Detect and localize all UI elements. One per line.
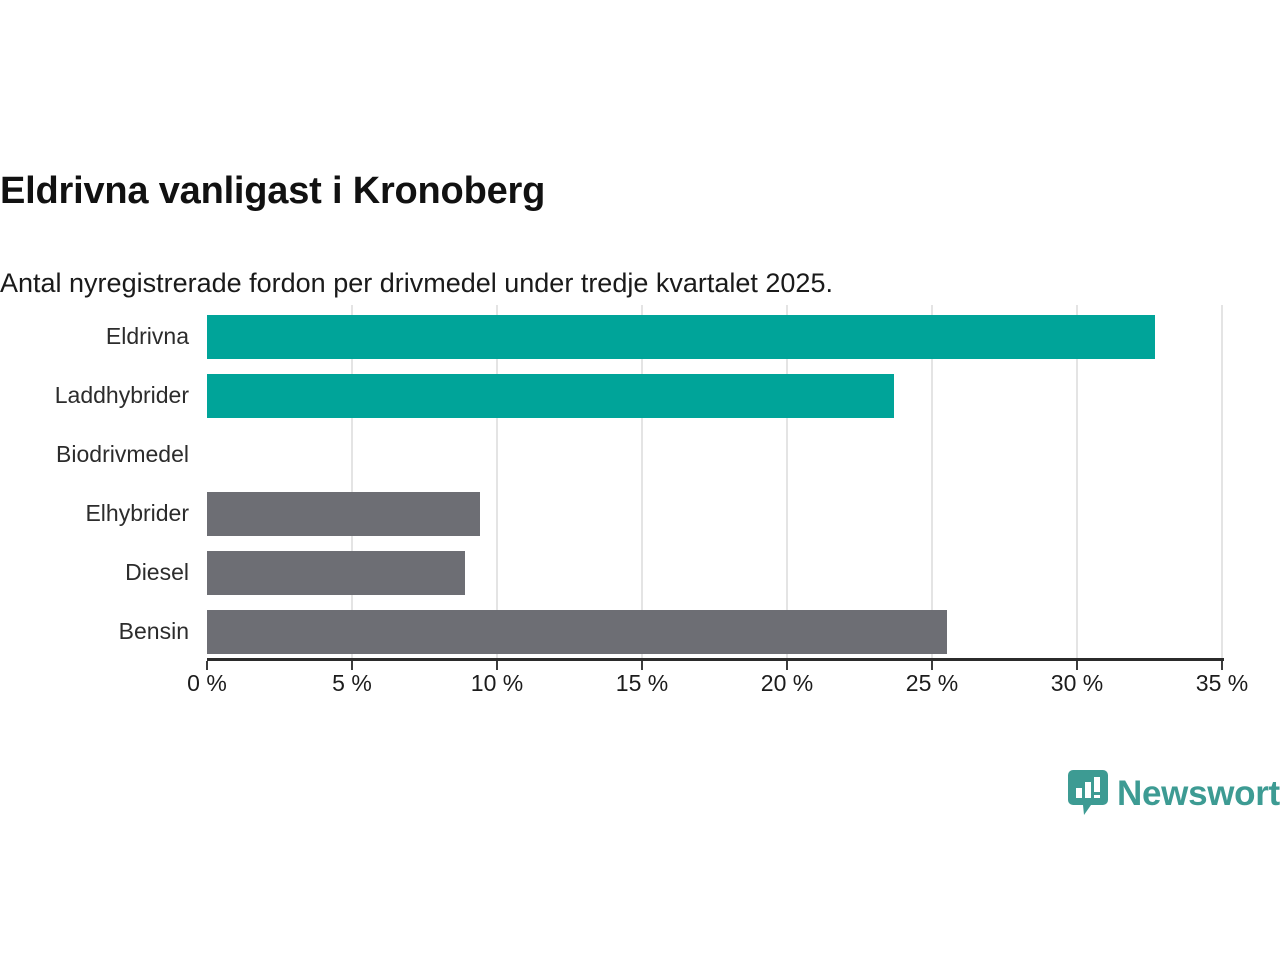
tick-mark: [641, 661, 643, 670]
y-category-label: Eldrivna: [0, 323, 189, 349]
tick-mark: [1221, 661, 1223, 670]
x-tick-label: 30 %: [1051, 670, 1103, 697]
gridline: [1221, 305, 1223, 660]
x-tick-label: 15 %: [616, 670, 668, 697]
tick-mark: [931, 661, 933, 670]
bar: [207, 374, 894, 418]
x-tick-label: 20 %: [761, 670, 813, 697]
bar: [207, 610, 947, 654]
x-tick-label: 35 %: [1196, 670, 1248, 697]
tick-mark: [786, 661, 788, 670]
bar-chart: 0 %5 %10 %15 %20 %25 %30 %35 % EldrivnaL…: [0, 0, 1280, 960]
y-category-label: Biodrivmedel: [0, 441, 189, 467]
x-tick-label: 0 %: [187, 670, 227, 697]
tick-mark: [496, 661, 498, 670]
x-tick-label: 25 %: [906, 670, 958, 697]
tick-mark: [1076, 661, 1078, 670]
y-category-label: Elhybrider: [0, 500, 189, 526]
y-category-label: Diesel: [0, 559, 189, 585]
tick-mark: [351, 661, 353, 670]
bar-chart-speech-bubble-icon: [1068, 770, 1108, 816]
x-tick-label: 10 %: [471, 670, 523, 697]
newsworthy-logo[interactable]: Newsworthy: [1068, 770, 1280, 816]
chart-page: Eldrivna vanligast i Kronoberg Antal nyr…: [0, 0, 1280, 960]
plot-area: [207, 305, 1222, 660]
x-axis-line: [207, 658, 1224, 661]
y-category-label: Bensin: [0, 618, 189, 644]
x-tick-label: 5 %: [332, 670, 372, 697]
y-category-label: Laddhybrider: [0, 382, 189, 408]
tick-mark: [206, 661, 208, 670]
logo-wordmark: Newsworthy: [1117, 776, 1280, 811]
bar: [207, 492, 480, 536]
bar: [207, 315, 1155, 359]
bar: [207, 551, 465, 595]
